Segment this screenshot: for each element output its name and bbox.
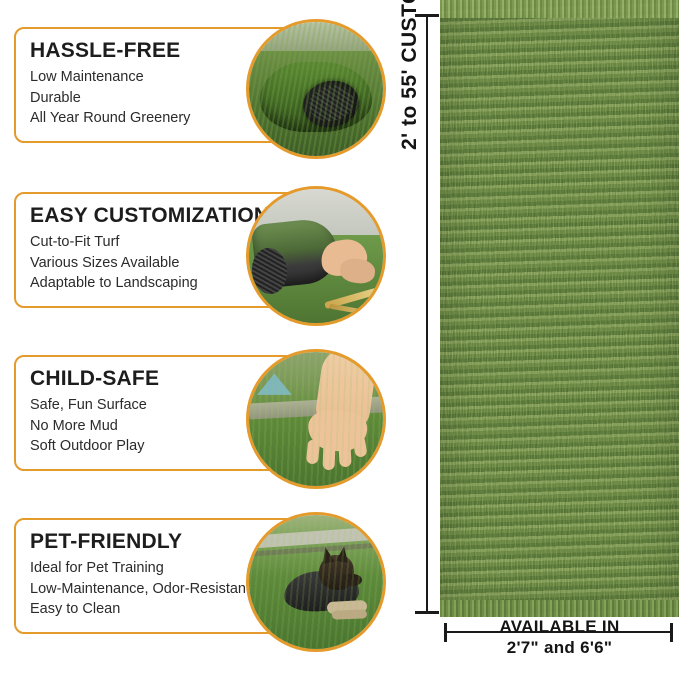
vertical-dimension-label: 2' to 55' CUSTOMIZABLE (398, 0, 422, 150)
feature-photo-child-hand (246, 349, 386, 489)
horizontal-dimension-label: AVAILABLE IN 2'7" and 6'6" (440, 616, 679, 659)
turf-top-edge (440, 0, 679, 18)
available-in-text: AVAILABLE IN (499, 617, 619, 636)
vertical-dimension-line (426, 14, 428, 614)
feature-photo-unrolling-turf (246, 186, 386, 326)
product-infographic: HASSLE-FREE Low Maintenance Durable All … (0, 0, 679, 679)
feature-photo-rolled-turf (246, 19, 386, 159)
feature-photo-dog-on-turf (246, 512, 386, 652)
turf-product-image (440, 0, 679, 617)
available-sizes-text: 2'7" and 6'6" (440, 637, 679, 658)
vertical-dimension-cap-bottom (415, 611, 439, 614)
turf-bottom-edge (440, 600, 679, 617)
